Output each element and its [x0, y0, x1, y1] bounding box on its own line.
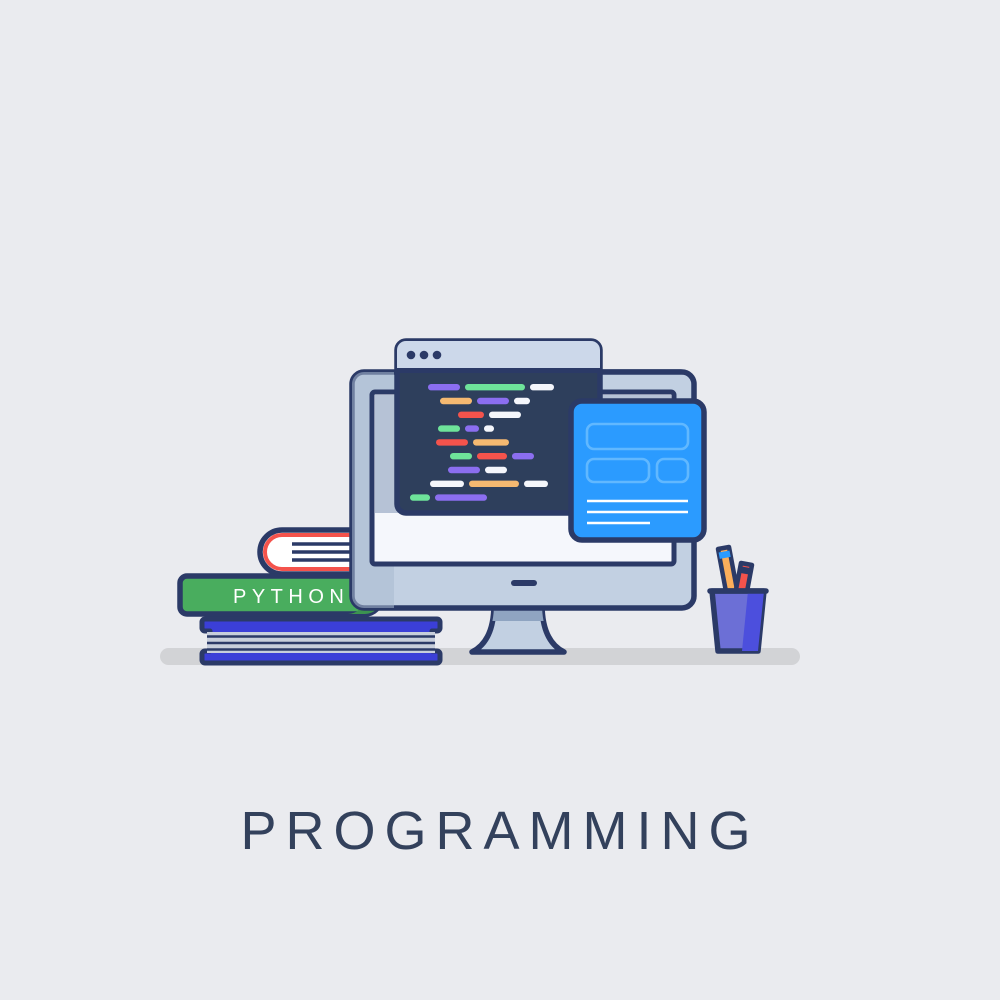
code-token-orange — [469, 481, 519, 487]
code-token-white — [530, 384, 554, 390]
page-title: PROGRAMMING — [0, 800, 1000, 862]
window-dot-icon[interactable] — [420, 351, 429, 360]
code-token-green — [410, 494, 430, 500]
code-token-purple — [435, 494, 487, 500]
code-token-red — [436, 439, 468, 445]
window-dot-icon[interactable] — [433, 351, 442, 360]
python-book-label: PYTHON — [233, 586, 349, 608]
code-token-white — [514, 398, 530, 404]
monitor-notch — [511, 580, 537, 586]
code-token-white — [430, 481, 464, 487]
code-token-white — [484, 425, 494, 431]
code-token-white — [489, 412, 521, 418]
illustration-canvas: PYTHON — [0, 0, 1000, 1000]
pencil-cup — [710, 547, 766, 651]
code-token-purple — [448, 467, 480, 473]
code-token-purple — [465, 425, 479, 431]
ui-mockup-card[interactable] — [571, 401, 704, 540]
code-token-orange — [473, 439, 509, 445]
code-token-white — [485, 467, 507, 473]
code-token-white — [524, 481, 548, 487]
code-token-purple — [512, 453, 534, 459]
book-bottom-blue — [202, 619, 440, 663]
code-token-purple — [428, 384, 460, 390]
window-dot-icon[interactable] — [407, 351, 416, 360]
code-token-red — [458, 412, 484, 418]
code-token-red — [477, 453, 507, 459]
code-token-green — [438, 425, 460, 431]
code-token-green — [465, 384, 525, 390]
code-token-green — [450, 453, 472, 459]
code-token-orange — [440, 398, 472, 404]
code-token-purple — [477, 398, 509, 404]
